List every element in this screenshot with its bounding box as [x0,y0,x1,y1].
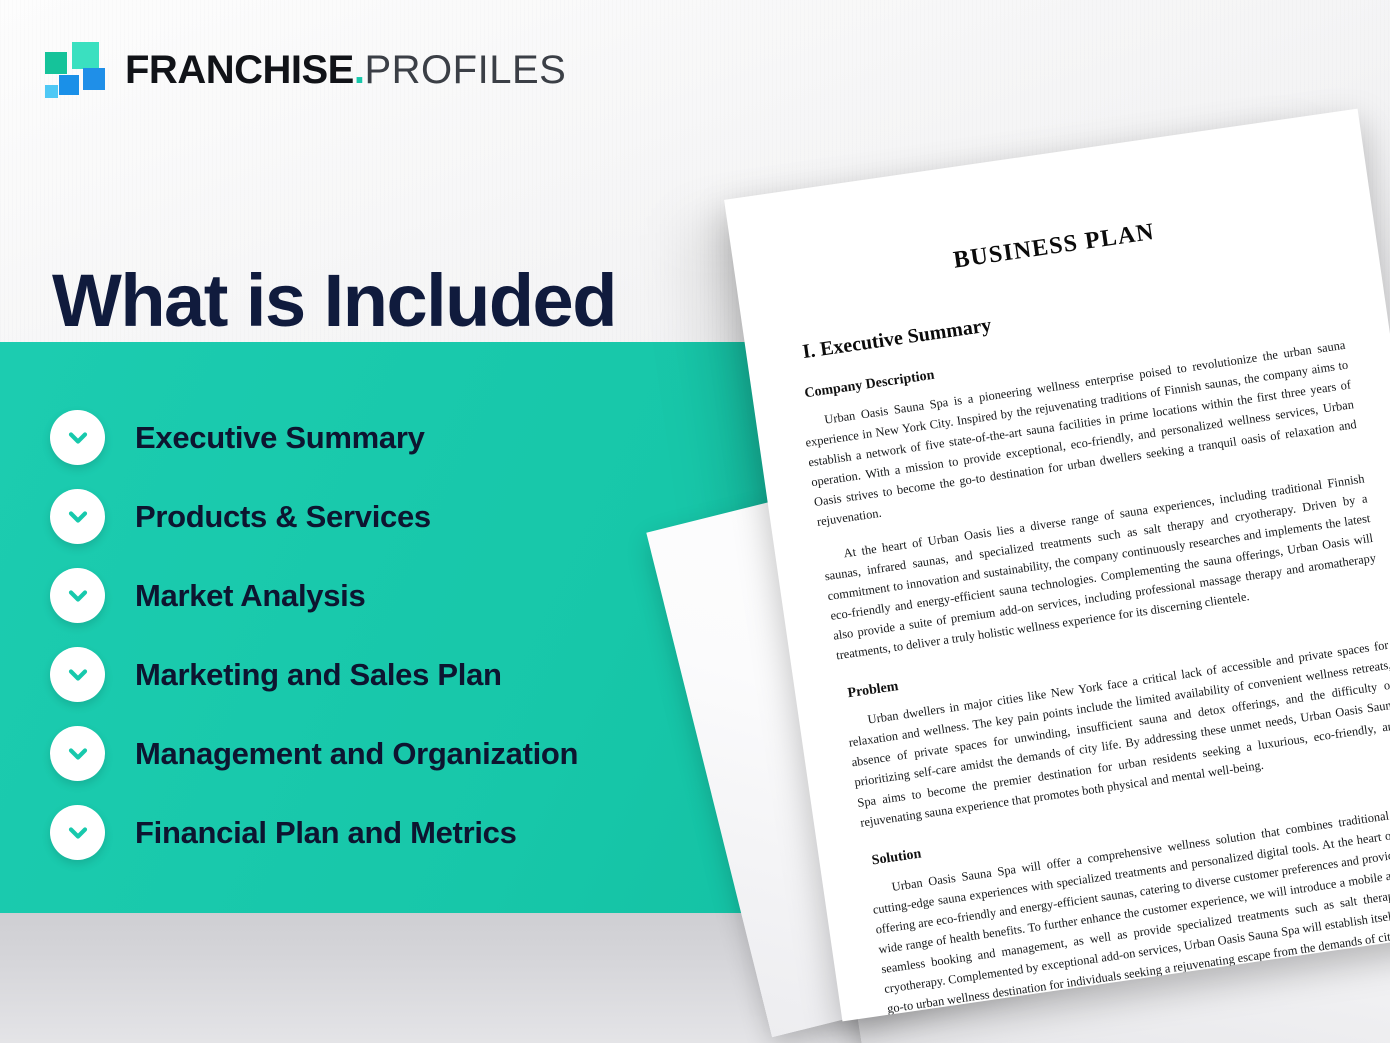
chevron-down-icon[interactable] [50,410,105,465]
business-plan-document-stack[interactable]: a de BUSINESS PLAN I. Executive Summary … [690,120,1390,1043]
logo-word-dot: . [354,48,365,92]
logo-mark-squares-icon [45,42,107,98]
logo-square-blue [83,68,105,90]
list-item-label: Market Analysis [135,578,365,614]
list-item-label: Management and Organization [135,736,578,772]
list-item-label: Financial Plan and Metrics [135,815,517,851]
page-title: What is Included [52,262,616,340]
logo-square-mint [72,42,99,69]
list-item-label: Products & Services [135,499,431,535]
included-sections-list: Executive Summary Products & Services Ma… [50,398,690,872]
logo-square-light-blue [45,85,58,98]
list-item-label: Marketing and Sales Plan [135,657,502,693]
list-item[interactable]: Financial Plan and Metrics [50,793,690,872]
slide-what-is-included: FRANCHISE.PROFILES What is Included Exec… [0,0,1390,1043]
logo-word-profiles: PROFILES [364,48,566,92]
list-item[interactable]: Products & Services [50,477,690,556]
document-sheet-front[interactable]: BUSINESS PLAN I. Executive Summary Compa… [724,109,1390,1022]
logo-square-green [45,52,67,74]
chevron-down-icon[interactable] [50,489,105,544]
document-page-content: BUSINESS PLAN I. Executive Summary Compa… [724,109,1390,1022]
chevron-down-icon[interactable] [50,647,105,702]
brand-logo[interactable]: FRANCHISE.PROFILES [45,42,566,98]
logo-square-blue-small [59,75,79,95]
list-item[interactable]: Management and Organization [50,714,690,793]
list-item[interactable]: Marketing and Sales Plan [50,635,690,714]
chevron-down-icon[interactable] [50,805,105,860]
list-item[interactable]: Market Analysis [50,556,690,635]
list-item-label: Executive Summary [135,420,425,456]
logo-word-franchise: FRANCHISE [125,48,354,92]
logo-wordmark: FRANCHISE.PROFILES [125,50,566,90]
chevron-down-icon[interactable] [50,726,105,781]
chevron-down-icon[interactable] [50,568,105,623]
list-item[interactable]: Executive Summary [50,398,690,477]
